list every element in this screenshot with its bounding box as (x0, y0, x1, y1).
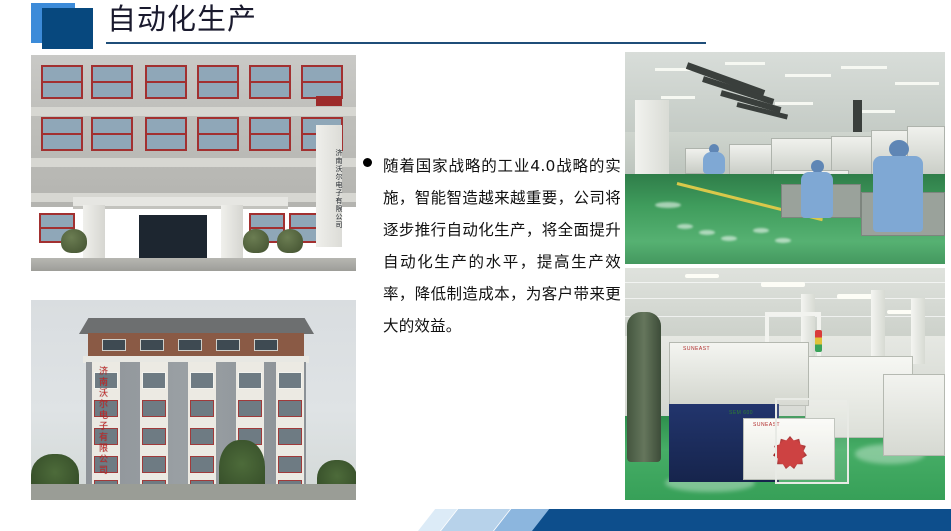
title-accent-square-front (42, 8, 93, 49)
bullet-dot-icon (363, 158, 372, 167)
bullet-item: 随着国家战略的工业4.0战略的实施，智能智造越来越重要，公司将逐步推行自动化生产… (363, 150, 621, 342)
office-entrance-canopy (73, 197, 288, 206)
smt-signal-tower (815, 330, 822, 352)
page-title: 自动化生产 (107, 2, 257, 38)
smt-work-table (775, 398, 849, 484)
smt-gas-tank (627, 312, 661, 462)
office-entrance-door (139, 215, 207, 263)
office-red-plaque (316, 96, 342, 106)
tall-company-sign: 济南沃尔电子有限公司 (93, 366, 108, 476)
content-body: 随着国家战略的工业4.0战略的实施，智能智造越来越重要，公司将逐步推行自动化生产… (363, 150, 621, 342)
tall-roof (79, 318, 314, 334)
photo-factory-floor (625, 52, 945, 264)
title-underline-rule (106, 42, 706, 44)
bullet-paragraph: 随着国家战略的工业4.0战略的实施，智能智造越来越重要，公司将逐步推行自动化生产… (383, 150, 621, 342)
smt-conveyor-oven (883, 374, 945, 456)
tall-facade (86, 362, 306, 500)
photo-smt-production-line: SUNEAST SUNEAST SEM 600 (625, 268, 945, 500)
factory-ceiling (625, 52, 945, 138)
office-forecourt (31, 258, 356, 271)
office-company-sign: 济南沃尔电子有限公司 (316, 125, 342, 247)
tall-attic-storey (88, 333, 304, 357)
photo-office-building-front: 济南沃尔电子有限公司 (31, 55, 356, 271)
office-facade (31, 55, 356, 207)
tall-ground (31, 484, 356, 500)
slide-canvas: 自动化生产 (0, 0, 951, 531)
footer-decoration-band (0, 500, 951, 531)
photo-office-building-tall: 济南沃尔电子有限公司 (31, 300, 356, 500)
footer-stripe-navy (532, 509, 951, 531)
